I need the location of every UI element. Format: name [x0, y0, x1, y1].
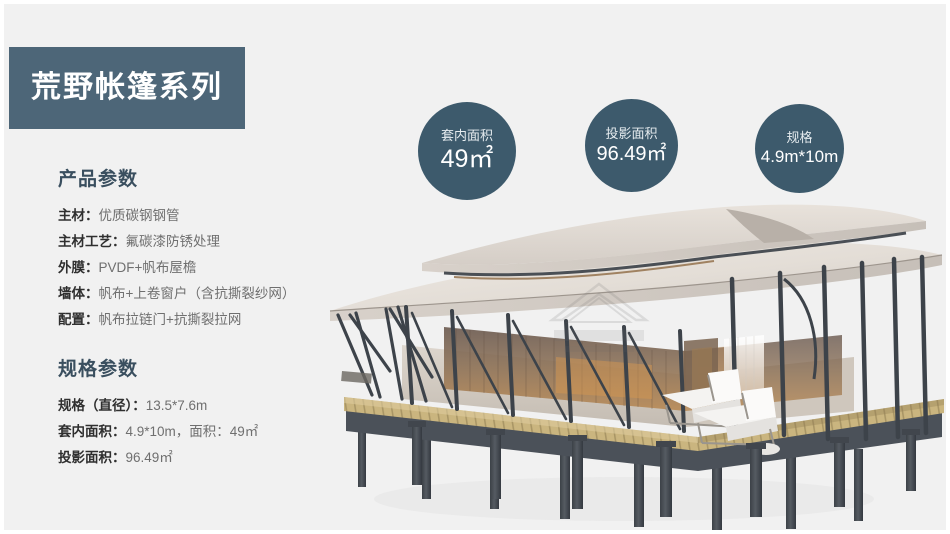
slide-canvas: 荒野帐篷系列 产品参数 主材：优质碳钢钢管 主材工艺：氟碳漆防锈处理 外膜：PV… — [0, 0, 950, 534]
spec-value: 13.5*7.6m — [146, 398, 208, 413]
badge-label: 套内面积 — [441, 128, 493, 144]
spec-value: 优质碳钢钢管 — [99, 208, 180, 223]
badge-interior-area: 套内面积 49㎡ — [418, 102, 516, 200]
spec-label: 配置： — [58, 312, 99, 327]
title-banner: 荒野帐篷系列 — [9, 47, 245, 129]
badge-value: 96.49㎡ — [596, 143, 666, 165]
spec-value: 氟碳漆防锈处理 — [126, 234, 221, 249]
spec-value: PVDF+帆布屋檐 — [99, 260, 197, 275]
spec-label: 套内面积： — [58, 424, 126, 439]
badge-dimensions: 规格 4.9m*10m — [755, 104, 844, 193]
spec-label: 规格（直径）： — [58, 398, 146, 413]
badge-value: 4.9m*10m — [761, 148, 838, 167]
badge-projected-area: 投影面积 96.49㎡ — [585, 99, 678, 192]
badge-value: 49㎡ — [441, 146, 494, 174]
page-title: 荒野帐篷系列 — [31, 73, 223, 103]
spec-label: 墙体： — [58, 286, 99, 301]
badge-label: 投影面积 — [605, 126, 657, 142]
spec-label: 主材： — [58, 208, 99, 223]
spec-value: 96.49㎡ — [126, 450, 173, 465]
spec-label: 投影面积： — [58, 450, 126, 465]
spec-value: 帆布+上卷窗户（含抗撕裂纱网） — [99, 286, 296, 301]
section-heading-product-params: 产品参数 — [58, 169, 358, 192]
spec-value: 4.9*10m，面积：49㎡ — [126, 424, 259, 439]
spec-label: 外膜： — [58, 260, 99, 275]
spec-value: 帆布拉链门+抗撕裂拉网 — [99, 312, 242, 327]
badge-label: 规格 — [786, 130, 812, 146]
product-render-image — [294, 199, 950, 534]
spec-label: 主材工艺： — [58, 234, 126, 249]
